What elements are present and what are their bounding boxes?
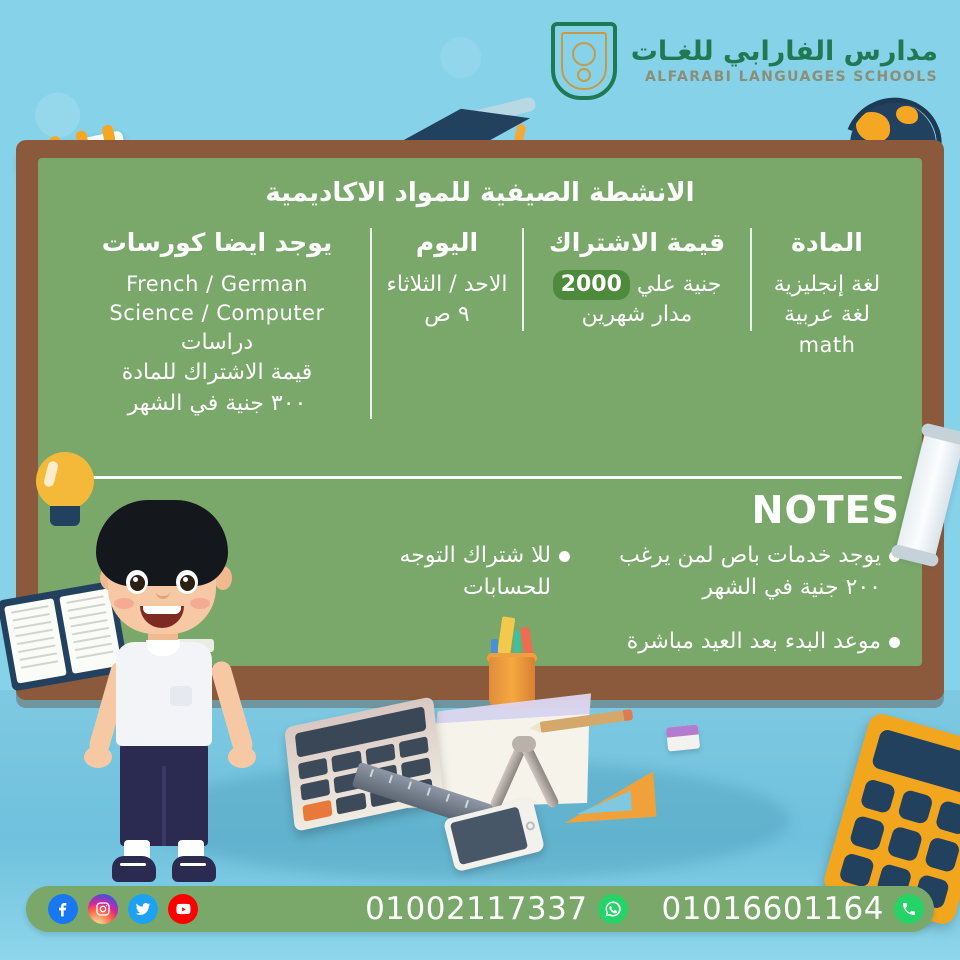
logo-english-name: ALFARABI LANGUAGES SCHOOLS bbox=[631, 70, 938, 85]
courses-line-4: قيمة الاشتراك للمادة bbox=[76, 358, 358, 388]
note-text-bus: يوجد خدمات باص لمن يرغب ٢٠٠ جنية في الشه… bbox=[600, 540, 881, 604]
boy-shirt bbox=[116, 642, 212, 746]
boy-right-eye bbox=[176, 570, 198, 594]
note-item: يوجد خدمات باص لمن يرغب ٢٠٠ جنية في الشه… bbox=[600, 540, 900, 604]
student-character bbox=[78, 500, 264, 884]
bullet-icon bbox=[559, 551, 570, 562]
boy-left-eye bbox=[126, 570, 148, 594]
boy-right-arm bbox=[209, 659, 255, 757]
contact-footer-bar: 01002117337 01016601164 bbox=[26, 886, 934, 932]
note-text-start-date: موعد البدء بعد العيد مباشرة bbox=[600, 626, 881, 658]
boy-left-hand bbox=[84, 746, 112, 768]
logo-text-block: مدارس الفارابي للغـات ALFARABI LANGUAGES… bbox=[631, 37, 938, 85]
courses-line-2: Science / Computer bbox=[76, 299, 358, 328]
courses-line-3: دراسات bbox=[76, 328, 358, 358]
phone-icon[interactable] bbox=[894, 894, 924, 924]
day-line-1: الاحد / الثلاثاء bbox=[384, 270, 510, 300]
boy-hair bbox=[96, 500, 228, 586]
bullet-icon bbox=[889, 637, 900, 648]
twitter-icon[interactable] bbox=[128, 894, 158, 924]
facebook-icon[interactable] bbox=[48, 894, 78, 924]
pencil-cup-icon bbox=[483, 635, 541, 707]
logo-inner-dot-icon bbox=[577, 68, 591, 82]
subject-line-2: لغة عربية bbox=[764, 300, 890, 330]
boy-right-shoe bbox=[172, 856, 216, 882]
day-line-2: ٩ ص bbox=[384, 300, 510, 330]
notes-list-middle: للا شتراك التوجه للحسابات bbox=[320, 540, 570, 626]
fee-amount-row: جنية علي 2000 bbox=[536, 270, 738, 300]
column-header-fee: قيمة الاشتراك bbox=[536, 228, 738, 258]
courses-line-5: ٣٠٠ جنية في الشهر bbox=[76, 389, 358, 419]
whatsapp-icon[interactable] bbox=[598, 894, 628, 924]
notes-list-right: يوجد خدمات باص لمن يرغب ٢٠٠ جنية في الشه… bbox=[600, 540, 900, 680]
fee-amount-badge: 2000 bbox=[553, 270, 630, 300]
column-header-day: اليوم bbox=[384, 228, 510, 258]
fee-suffix: جنية علي bbox=[637, 272, 721, 297]
note-item: للا شتراك التوجه للحسابات bbox=[320, 540, 570, 604]
alfarabi-shield-book-logo-icon bbox=[551, 22, 617, 100]
courses-line-1: French / German bbox=[76, 270, 358, 299]
phone-number[interactable]: 01016601164 bbox=[662, 891, 884, 927]
eraser-icon bbox=[666, 724, 700, 751]
boy-right-hand bbox=[228, 746, 256, 768]
table-column-subject: المادة لغة إنجليزية لغة عربية math bbox=[752, 228, 902, 360]
boy-pants bbox=[120, 738, 208, 846]
section-divider bbox=[64, 476, 902, 479]
poster-canvas: مدارس الفارابي للغـات ALFARABI LANGUAGES… bbox=[0, 0, 960, 960]
column-header-subject: المادة bbox=[764, 228, 890, 258]
instagram-icon[interactable] bbox=[88, 894, 118, 924]
note-text-accounts: للا شتراك التوجه للحسابات bbox=[320, 540, 551, 604]
column-body-subject: لغة إنجليزية لغة عربية math bbox=[764, 270, 890, 360]
fee-period: مدار شهرين bbox=[536, 300, 738, 330]
note-item: موعد البدء بعد العيد مباشرة bbox=[600, 626, 900, 658]
table-column-day: اليوم الاحد / الثلاثاء ٩ ص bbox=[372, 228, 524, 331]
notes-heading: NOTES bbox=[752, 488, 900, 532]
phone-contact[interactable]: 01016601164 bbox=[662, 891, 924, 927]
column-body-fee: جنية علي 2000 مدار شهرين bbox=[536, 270, 738, 331]
board-title: الانشطة الصيفية للمواد الاكاديمية bbox=[38, 178, 922, 208]
logo-arabic-name: مدارس الفارابي للغـات bbox=[631, 37, 938, 67]
subject-line-3: math bbox=[764, 331, 890, 360]
boy-left-shoe bbox=[112, 856, 156, 882]
whatsapp-contact[interactable]: 01002117337 bbox=[365, 891, 627, 927]
brand-logo: مدارس الفارابي للغـات ALFARABI LANGUAGES… bbox=[551, 22, 938, 100]
table-column-fee: قيمة الاشتراك جنية علي 2000 مدار شهرين bbox=[524, 228, 752, 331]
whatsapp-number[interactable]: 01002117337 bbox=[365, 891, 587, 927]
social-links bbox=[48, 894, 198, 924]
info-table: المادة لغة إنجليزية لغة عربية math قيمة … bbox=[64, 228, 902, 419]
youtube-icon[interactable] bbox=[168, 894, 198, 924]
column-body-day: الاحد / الثلاثاء ٩ ص bbox=[384, 270, 510, 331]
subject-line-1: لغة إنجليزية bbox=[764, 270, 890, 300]
column-header-courses: يوجد ايضا كورسات bbox=[76, 228, 358, 258]
column-body-courses: French / German Science / Computer دراسا… bbox=[76, 270, 358, 419]
table-column-courses: يوجد ايضا كورسات French / German Science… bbox=[64, 228, 372, 419]
